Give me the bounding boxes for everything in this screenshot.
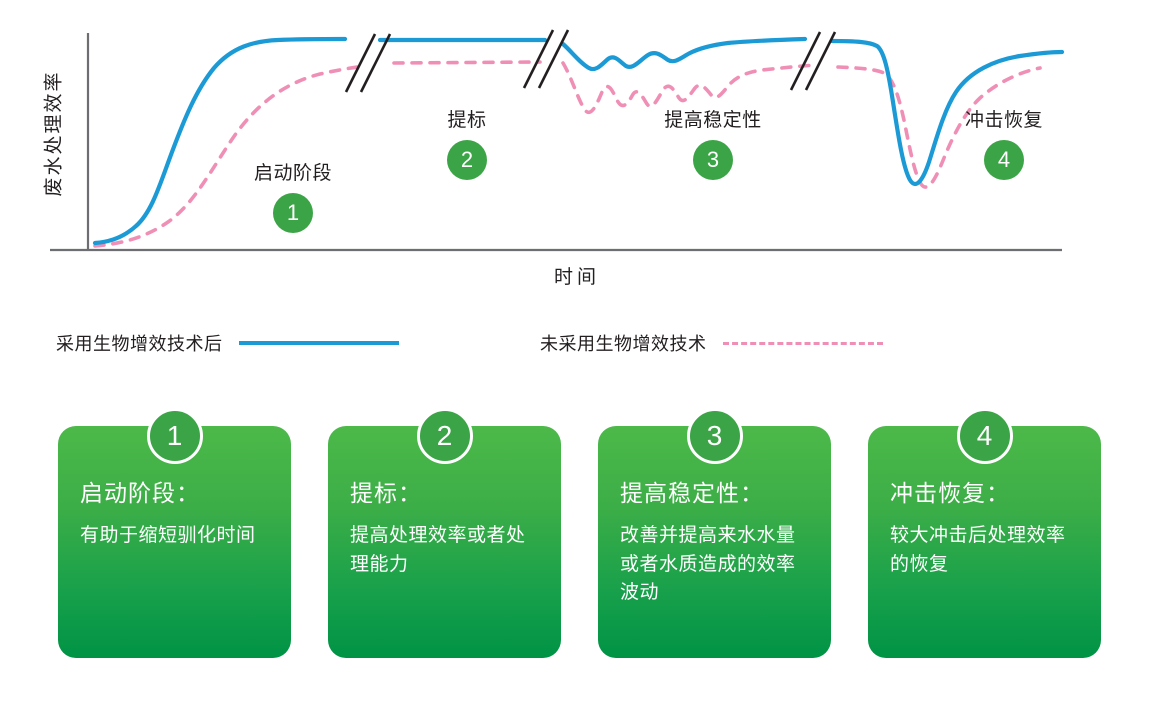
legend-item-untreated: 未采用生物增效技术: [540, 330, 883, 356]
y-axis-label: 废水处理效率: [39, 44, 66, 224]
untreated-curve-segment-2: [394, 62, 540, 63]
legend-swatch-solid-line: [239, 341, 399, 345]
phase-card-badge-2: 2: [417, 408, 473, 464]
chart-phase-annotation-3: 提高稳定性 3: [633, 105, 793, 180]
chart-phase-badge-1: 1: [273, 193, 313, 233]
chart-phase-annotation-2: 提标 2: [387, 105, 547, 180]
chart-phase-badge-2: 2: [447, 140, 487, 180]
chart-phase-badge-3: 3: [693, 140, 733, 180]
phase-card-title-1: 启动阶段：: [80, 474, 269, 508]
chart-region: 废水处理效率 时间 启动阶段 1 提标 2 提高稳定性 3 冲击恢复 4: [0, 0, 1157, 305]
phase-card-1[interactable]: 1 启动阶段： 有助于缩短驯化时间: [58, 408, 291, 658]
phase-card-desc-4: 较大冲击后处理效率的恢复: [890, 522, 1079, 579]
phase-card-title-4: 冲击恢复：: [890, 474, 1079, 508]
phase-card-badge-4: 4: [957, 408, 1013, 464]
phase-card-title-3: 提高稳定性：: [620, 474, 809, 508]
x-axis-label: 时间: [497, 262, 657, 289]
phase-card-title-2: 提标：: [350, 474, 539, 508]
legend-label-treated: 采用生物增效技术后: [56, 330, 223, 356]
legend-label-untreated: 未采用生物增效技术: [540, 330, 707, 356]
phase-card-3[interactable]: 3 提高稳定性： 改善并提高来水水量或者水质造成的效率波动: [598, 408, 831, 658]
phase-card-badge-1: 1: [147, 408, 203, 464]
phase-card-desc-3: 改善并提高来水水量或者水质造成的效率波动: [620, 522, 809, 608]
chart-phase-annotation-4: 冲击恢复 4: [924, 105, 1084, 180]
phase-card-desc-1: 有助于缩短驯化时间: [80, 522, 269, 551]
chart-phase-badge-4: 4: [984, 140, 1024, 180]
chart-legend: 采用生物增效技术后 未采用生物增效技术: [0, 325, 1157, 365]
phase-card-desc-2: 提高处理效率或者处理能力: [350, 522, 539, 579]
chart-phase-label-4: 冲击恢复: [924, 105, 1084, 132]
treated-curve-segment-3: [563, 39, 805, 69]
chart-phase-label-1: 启动阶段: [213, 158, 373, 185]
legend-item-treated: 采用生物增效技术后: [56, 330, 399, 356]
chart-phase-annotation-1: 启动阶段 1: [213, 158, 373, 233]
legend-swatch-dashed-line: [723, 342, 883, 345]
chart-phase-label-2: 提标: [387, 105, 547, 132]
phase-card-2[interactable]: 2 提标： 提高处理效率或者处理能力: [328, 408, 561, 658]
axis-break-mark-1: [346, 34, 390, 92]
phase-card-badge-3: 3: [687, 408, 743, 464]
chart-phase-label-3: 提高稳定性: [633, 105, 793, 132]
phase-cards-row: 1 启动阶段： 有助于缩短驯化时间 2 提标： 提高处理效率或者处理能力 3 提…: [0, 408, 1157, 668]
phase-card-4[interactable]: 4 冲击恢复： 较大冲击后处理效率的恢复: [868, 408, 1101, 658]
